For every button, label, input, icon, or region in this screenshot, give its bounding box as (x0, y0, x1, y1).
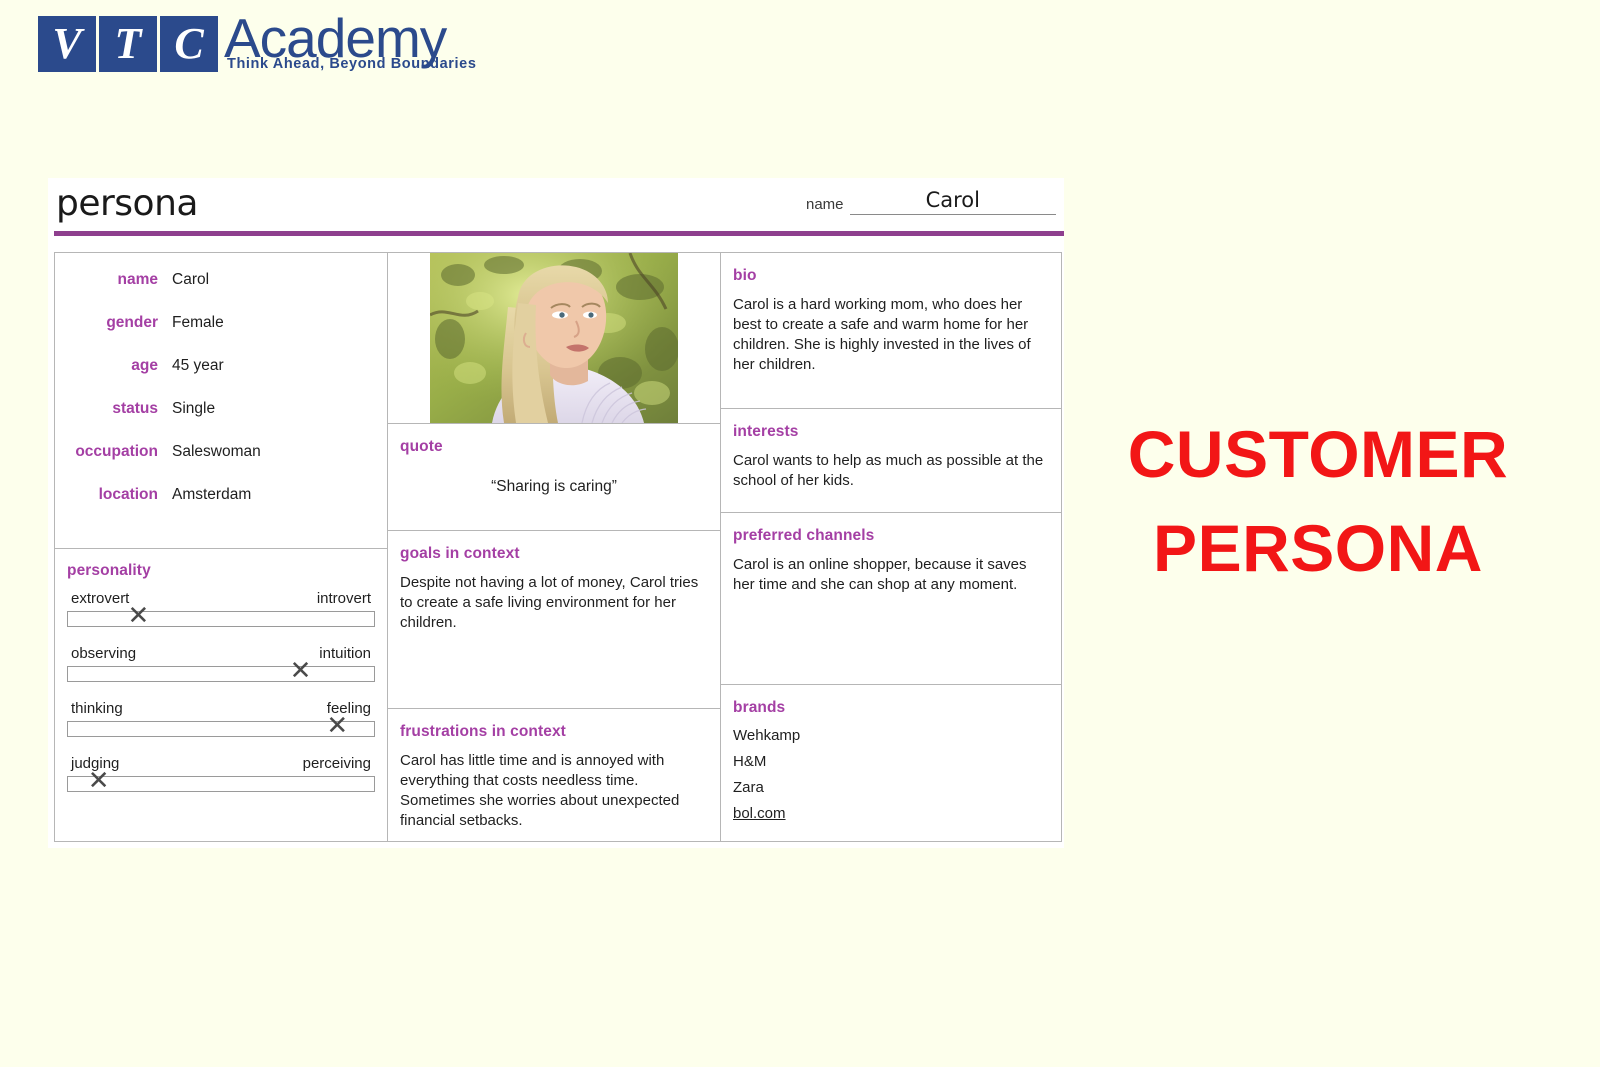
slider-labels: extrovert introvert (67, 590, 375, 611)
brand-item-link[interactable]: bol.com (733, 805, 1049, 822)
demographic-value: Carol (172, 271, 209, 289)
bio-cell: bio Carol is a hard working mom, who doe… (721, 253, 1061, 408)
demographic-key: gender (67, 314, 172, 332)
name-field-label: name (806, 196, 850, 215)
slider-label-right: intuition (319, 645, 371, 662)
demographic-row: gender Female (67, 314, 375, 332)
slider-track[interactable]: ✕ (67, 611, 375, 627)
personality-slider-thinking-feeling[interactable]: thinking feeling ✕ (67, 700, 375, 737)
demographic-key: status (67, 400, 172, 418)
slider-x-marker[interactable]: ✕ (88, 768, 110, 794)
quote-cell: quote “Sharing is caring” (388, 423, 720, 530)
demographic-key: occupation (67, 443, 172, 461)
personality-heading: personality (67, 562, 375, 580)
slider-label-left: observing (71, 645, 136, 662)
slider-label-left: extrovert (71, 590, 129, 607)
demographic-row: location Amsterdam (67, 486, 375, 504)
personality-slider-judging-perceiving[interactable]: judging perceiving ✕ (67, 755, 375, 792)
slider-x-marker[interactable]: ✕ (290, 658, 312, 684)
grid-column-right: bio Carol is a hard working mom, who doe… (721, 253, 1061, 841)
name-field-underline: Carol (850, 188, 1056, 215)
frustrations-cell: frustrations in context Carol has little… (388, 708, 720, 841)
persona-card: persona name Carol name Carol gender Fem… (48, 178, 1064, 848)
slider-x-marker[interactable]: ✕ (127, 603, 149, 629)
interests-text: Carol wants to help as much as possible … (733, 451, 1049, 491)
persona-photo (430, 253, 678, 423)
headline: CUSTOMER PERSONA (1108, 408, 1528, 595)
grid-column-middle: quote “Sharing is caring” goals in conte… (388, 253, 721, 841)
grid-column-left: name Carol gender Female age 45 year sta… (55, 253, 388, 841)
slider-x-marker[interactable]: ✕ (326, 713, 348, 739)
demographic-key: name (67, 271, 172, 289)
personality-cell: personality extrovert introvert ✕ observ… (55, 548, 387, 841)
brands-cell: brands Wehkamp H&M Zara bol.com (721, 684, 1061, 841)
name-field-value: Carol (926, 188, 980, 212)
card-header: persona name Carol (48, 178, 1064, 233)
logo-tile-v: V (38, 16, 96, 72)
demographic-value: Single (172, 400, 215, 418)
demographic-value: Female (172, 314, 224, 332)
slider-track[interactable]: ✕ (67, 666, 375, 682)
slider-track[interactable]: ✕ (67, 776, 375, 792)
logo-tile-c: C (160, 16, 218, 72)
bio-text: Carol is a hard working mom, who does he… (733, 295, 1049, 375)
personality-slider-extrovert-introvert[interactable]: extrovert introvert ✕ (67, 590, 375, 627)
name-field: name Carol (806, 188, 1056, 215)
demographic-value: Amsterdam (172, 486, 251, 504)
interests-cell: interests Carol wants to help as much as… (721, 408, 1061, 511)
brand-item: H&M (733, 753, 1049, 770)
brands-heading: brands (733, 699, 1049, 717)
brand-item: Zara (733, 779, 1049, 796)
persona-grid: name Carol gender Female age 45 year sta… (54, 252, 1062, 842)
slider-label-right: introvert (317, 590, 371, 607)
quote-text: “Sharing is caring” (400, 478, 708, 496)
photo-cell (388, 253, 720, 423)
slider-track[interactable]: ✕ (67, 721, 375, 737)
logo-tile-t: T (99, 16, 157, 72)
demographic-value: 45 year (172, 357, 224, 375)
preferred-channels-heading: preferred channels (733, 527, 1049, 545)
interests-heading: interests (733, 423, 1049, 441)
demographic-row: name Carol (67, 271, 375, 289)
demographic-row: occupation Saleswoman (67, 443, 375, 461)
title-accent-rule (54, 231, 1064, 236)
goals-cell: goals in context Despite not having a lo… (388, 530, 720, 709)
goals-text: Despite not having a lot of money, Carol… (400, 573, 708, 633)
headline-line-1: CUSTOMER (1108, 408, 1528, 502)
slider-label-right: perceiving (303, 755, 371, 772)
frustrations-heading: frustrations in context (400, 723, 708, 741)
demographic-value: Saleswoman (172, 443, 261, 461)
brand-item: Wehkamp (733, 727, 1049, 744)
preferred-channels-cell: preferred channels Carol is an online sh… (721, 512, 1061, 684)
personality-slider-observing-intuition[interactable]: observing intuition ✕ (67, 645, 375, 682)
preferred-channels-text: Carol is an online shopper, because it s… (733, 555, 1049, 595)
demographics-cell: name Carol gender Female age 45 year sta… (55, 253, 387, 548)
frustrations-text: Carol has little time and is annoyed wit… (400, 751, 708, 831)
headline-line-2: PERSONA (1108, 502, 1528, 596)
logo-wordmark: Academy Think Ahead, Beyond Boundaries (224, 10, 477, 72)
bio-heading: bio (733, 267, 1049, 285)
vtc-academy-logo: V T C Academy Think Ahead, Beyond Bounda… (38, 16, 477, 78)
logo-tagline: Think Ahead, Beyond Boundaries (227, 56, 477, 72)
demographic-row: age 45 year (67, 357, 375, 375)
logo-tiles: V T C (38, 16, 218, 72)
slider-labels: observing intuition (67, 645, 375, 666)
demographic-key: age (67, 357, 172, 375)
slider-labels: judging perceiving (67, 755, 375, 776)
quote-heading: quote (400, 438, 708, 456)
goals-heading: goals in context (400, 545, 708, 563)
page-title: persona (56, 183, 198, 224)
demographic-key: location (67, 486, 172, 504)
slider-label-left: thinking (71, 700, 123, 717)
demographic-row: status Single (67, 400, 375, 418)
